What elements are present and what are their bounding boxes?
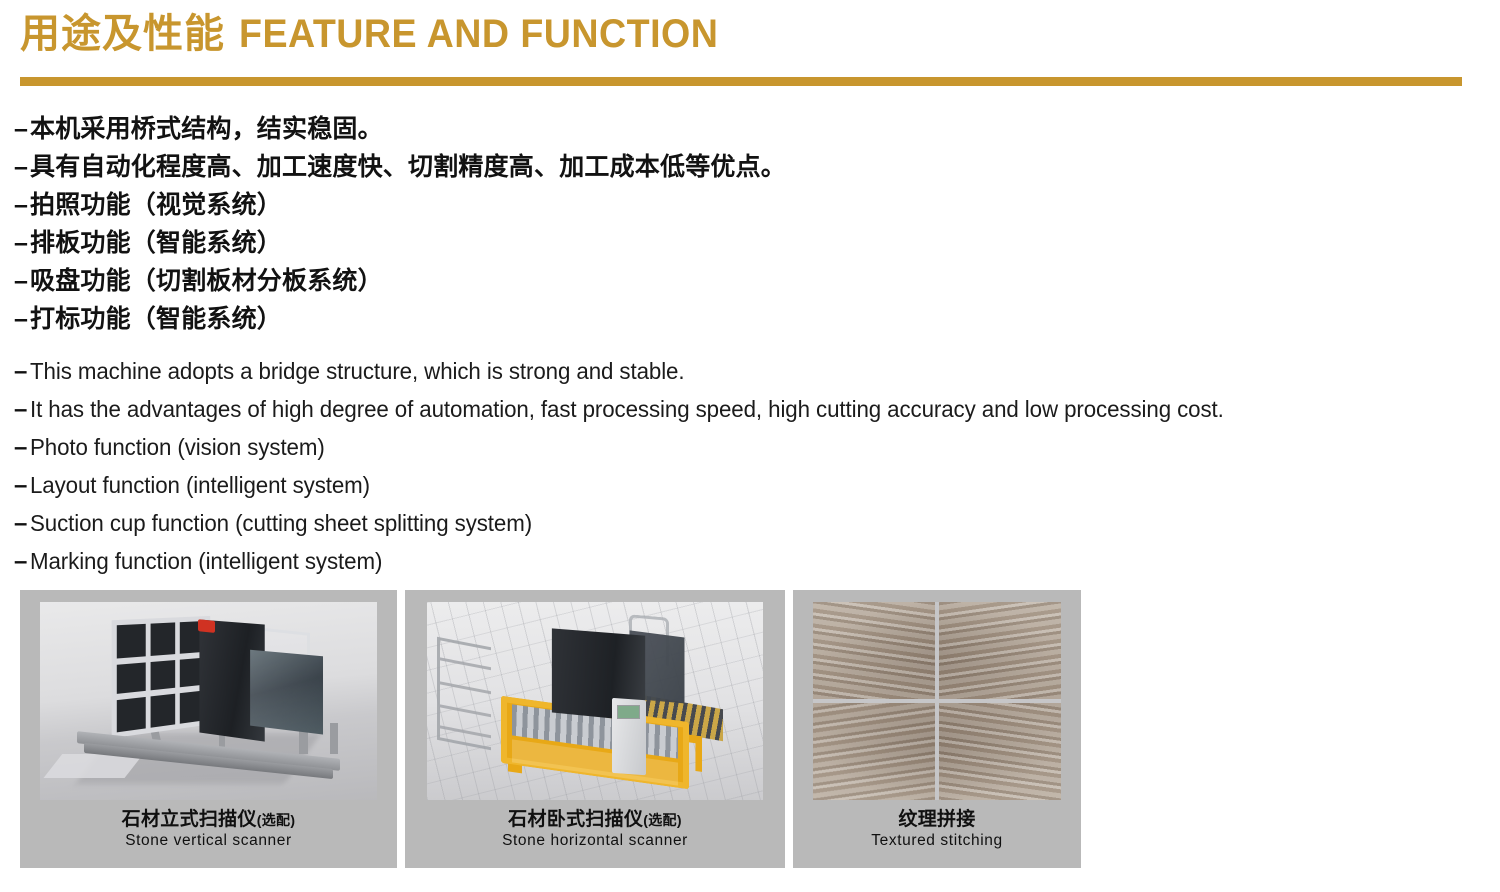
list-item-label: Suction cup function (cutting sheet spli… [30, 504, 532, 542]
stone-horizontal-scanner-photo [427, 602, 763, 800]
bullet-dash-icon: – [14, 467, 30, 505]
list-item: – It has the advantages of high degree o… [14, 390, 1474, 428]
list-item: – Marking function (intelligent system) [14, 542, 1474, 580]
list-item-label: It has the advantages of high degree of … [30, 390, 1224, 428]
page-title-chinese: 用途及性能 [20, 14, 225, 54]
header-divider-rule [20, 77, 1462, 86]
caption-chinese-main: 石材立式扫描仪 [122, 809, 257, 830]
list-item-label: 拍照功能（视觉系统） [30, 186, 282, 224]
caption-english: Textured stitching [871, 833, 1002, 850]
caption-chinese-option: (选配) [643, 812, 682, 828]
bullet-dash-icon: – [14, 110, 30, 148]
bullet-dash-icon: – [14, 429, 30, 467]
list-item: – 吸盘功能（切割板材分板系统） [14, 262, 1474, 300]
feature-bullet-lists: – 本机采用桥式结构，结实稳固。 – 具有自动化程度高、加工速度快、切割精度高、… [14, 110, 1474, 580]
textured-stitching-photo [813, 602, 1061, 800]
page-header: 用途及性能 FEATURE AND FUNCTION [20, 14, 1460, 54]
list-item-label: 打标功能（智能系统） [30, 300, 282, 338]
caption-chinese-main: 纹理拼接 [898, 809, 975, 830]
feature-image-gallery: 石材立式扫描仪(选配) Stone vertical scanner 石材卧式扫… [20, 590, 1081, 868]
caption-english: Stone horizontal scanner [502, 833, 688, 850]
gallery-card-caption: 纹理拼接 Textured stitching [871, 810, 1002, 849]
list-item-label: Layout function (intelligent system) [30, 466, 370, 504]
english-bullet-list: – This machine adopts a bridge structure… [14, 352, 1474, 580]
list-item: – This machine adopts a bridge structure… [14, 352, 1474, 390]
list-item-label: 具有自动化程度高、加工速度快、切割精度高、加工成本低等优点。 [30, 148, 786, 186]
list-item: – 拍照功能（视觉系统） [14, 186, 1474, 224]
stone-vertical-scanner-photo [40, 602, 377, 800]
list-item-label: 排板功能（智能系统） [30, 224, 282, 262]
bullet-dash-icon: – [14, 300, 30, 338]
bullet-dash-icon: – [14, 543, 30, 581]
caption-chinese-option: (选配) [257, 812, 296, 828]
bullet-dash-icon: – [14, 224, 30, 262]
caption-english: Stone vertical scanner [122, 833, 296, 850]
list-item: – Layout function (intelligent system) [14, 466, 1474, 504]
chinese-bullet-list: – 本机采用桥式结构，结实稳固。 – 具有自动化程度高、加工速度快、切割精度高、… [14, 110, 1474, 338]
gallery-card-stone-vertical-scanner: 石材立式扫描仪(选配) Stone vertical scanner [20, 590, 397, 868]
gallery-card-caption: 石材卧式扫描仪(选配) Stone horizontal scanner [502, 810, 688, 849]
list-item: – 打标功能（智能系统） [14, 300, 1474, 338]
bullet-dash-icon: – [14, 262, 30, 300]
caption-chinese: 石材卧式扫描仪(选配) [502, 810, 688, 831]
list-item-label: 吸盘功能（切割板材分板系统） [30, 262, 383, 300]
caption-chinese-main: 石材卧式扫描仪 [508, 809, 643, 830]
header-title-group: 用途及性能 FEATURE AND FUNCTION [20, 14, 1460, 54]
gallery-card-caption: 石材立式扫描仪(选配) Stone vertical scanner [122, 810, 296, 849]
list-item-label: Marking function (intelligent system) [30, 542, 382, 580]
list-item-label: This machine adopts a bridge structure, … [30, 352, 684, 390]
list-item-label: 本机采用桥式结构，结实稳固。 [30, 110, 383, 148]
list-item: – Photo function (vision system) [14, 428, 1474, 466]
list-item-label: Photo function (vision system) [30, 428, 325, 466]
list-item: – Suction cup function (cutting sheet sp… [14, 504, 1474, 542]
page-title-english: FEATURE AND FUNCTION [239, 14, 718, 54]
caption-chinese: 纹理拼接 [871, 810, 1002, 831]
bullet-dash-icon: – [14, 391, 30, 429]
list-item: – 本机采用桥式结构，结实稳固。 [14, 110, 1474, 148]
caption-chinese: 石材立式扫描仪(选配) [122, 810, 296, 831]
bullet-dash-icon: – [14, 186, 30, 224]
bullet-dash-icon: – [14, 148, 30, 186]
bullet-dash-icon: – [14, 505, 30, 543]
list-item: – 具有自动化程度高、加工速度快、切割精度高、加工成本低等优点。 [14, 148, 1474, 186]
gallery-card-textured-stitching: 纹理拼接 Textured stitching [793, 590, 1081, 868]
bullet-dash-icon: – [14, 353, 30, 391]
gallery-card-stone-horizontal-scanner: 石材卧式扫描仪(选配) Stone horizontal scanner [405, 590, 785, 868]
list-item: – 排板功能（智能系统） [14, 224, 1474, 262]
